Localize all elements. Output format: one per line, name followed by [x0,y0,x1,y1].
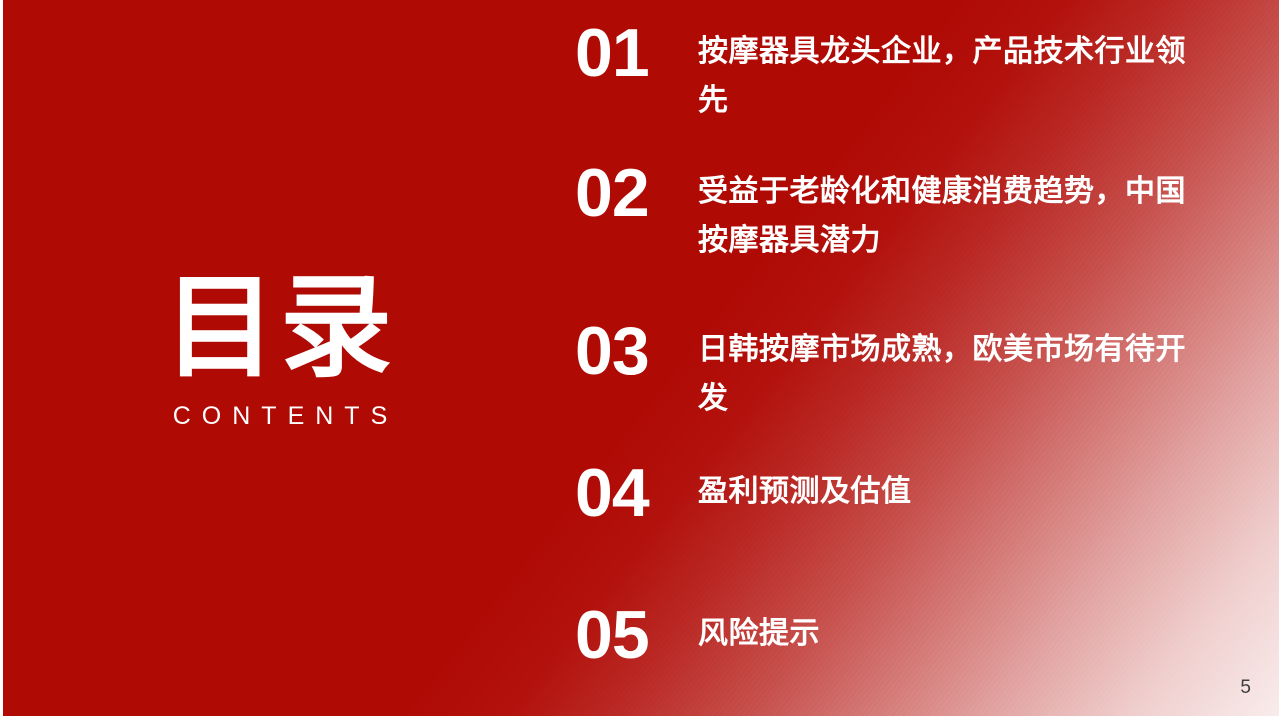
agenda-item-number: 05 [575,604,698,667]
agenda-item-03[interactable]: 03 日韩按摩市场成熟，欧美市场有待开发 [575,320,1215,423]
page-subtitle: CONTENTS [0,402,560,431]
agenda-item-label: 日韩按摩市场成熟，欧美市场有待开发 [698,320,1215,423]
agenda-item-02[interactable]: 02 受益于老龄化和健康消费趋势，中国按摩器具潜力 [575,162,1215,265]
slide-canvas: 目录 CONTENTS 01 按摩器具龙头企业，产品技术行业领先 02 受益于老… [0,0,1279,719]
agenda-item-number: 03 [575,320,698,383]
agenda-item-number: 01 [575,22,698,85]
agenda-item-label: 按摩器具龙头企业，产品技术行业领先 [698,22,1215,125]
section-title-block: 目录 CONTENTS [0,272,560,431]
agenda-item-label: 受益于老龄化和健康消费趋势，中国按摩器具潜力 [698,162,1215,265]
agenda-item-label: 盈利预测及估值 [698,462,1215,517]
agenda-item-label: 风险提示 [698,604,1215,659]
agenda-list: 01 按摩器具龙头企业，产品技术行业领先 02 受益于老龄化和健康消费趋势，中国… [575,0,1215,719]
page-number: 5 [1240,678,1251,697]
agenda-item-04[interactable]: 04 盈利预测及估值 [575,462,1215,525]
agenda-item-05[interactable]: 05 风险提示 [575,604,1215,667]
page-title: 目录 [0,272,560,384]
agenda-item-number: 02 [575,162,698,225]
agenda-item-number: 04 [575,462,698,525]
agenda-item-01[interactable]: 01 按摩器具龙头企业，产品技术行业领先 [575,22,1215,125]
